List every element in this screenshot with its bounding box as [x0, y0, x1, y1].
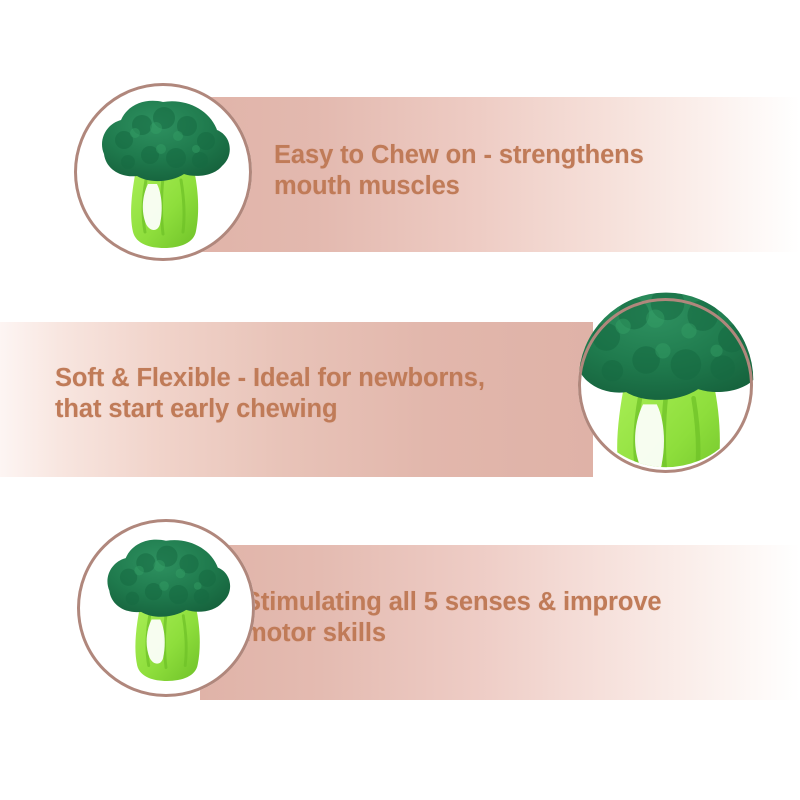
badge-clip-3: [80, 522, 252, 694]
feature-image-badge-3: [77, 519, 255, 697]
broccoli-teether-icon-1: [88, 92, 238, 252]
feature-image-badge-1: [74, 83, 252, 261]
infographic-canvas: Easy to Chew on - strengthens mouth musc…: [0, 0, 800, 800]
feature-text-1: Easy to Chew on - strengthens mouth musc…: [274, 140, 744, 202]
badge-clip-1: [77, 86, 249, 258]
feature-image-badge-2: [578, 298, 753, 473]
badge-clip-2: [581, 301, 750, 470]
broccoli-teether-icon-3: [94, 531, 238, 685]
feature-text-2: Soft & Flexible - Ideal for newborns, th…: [55, 363, 575, 425]
broccoli-teether-icon-2: [551, 263, 781, 508]
feature-text-3: Stimulating all 5 senses & improve motor…: [244, 587, 744, 649]
